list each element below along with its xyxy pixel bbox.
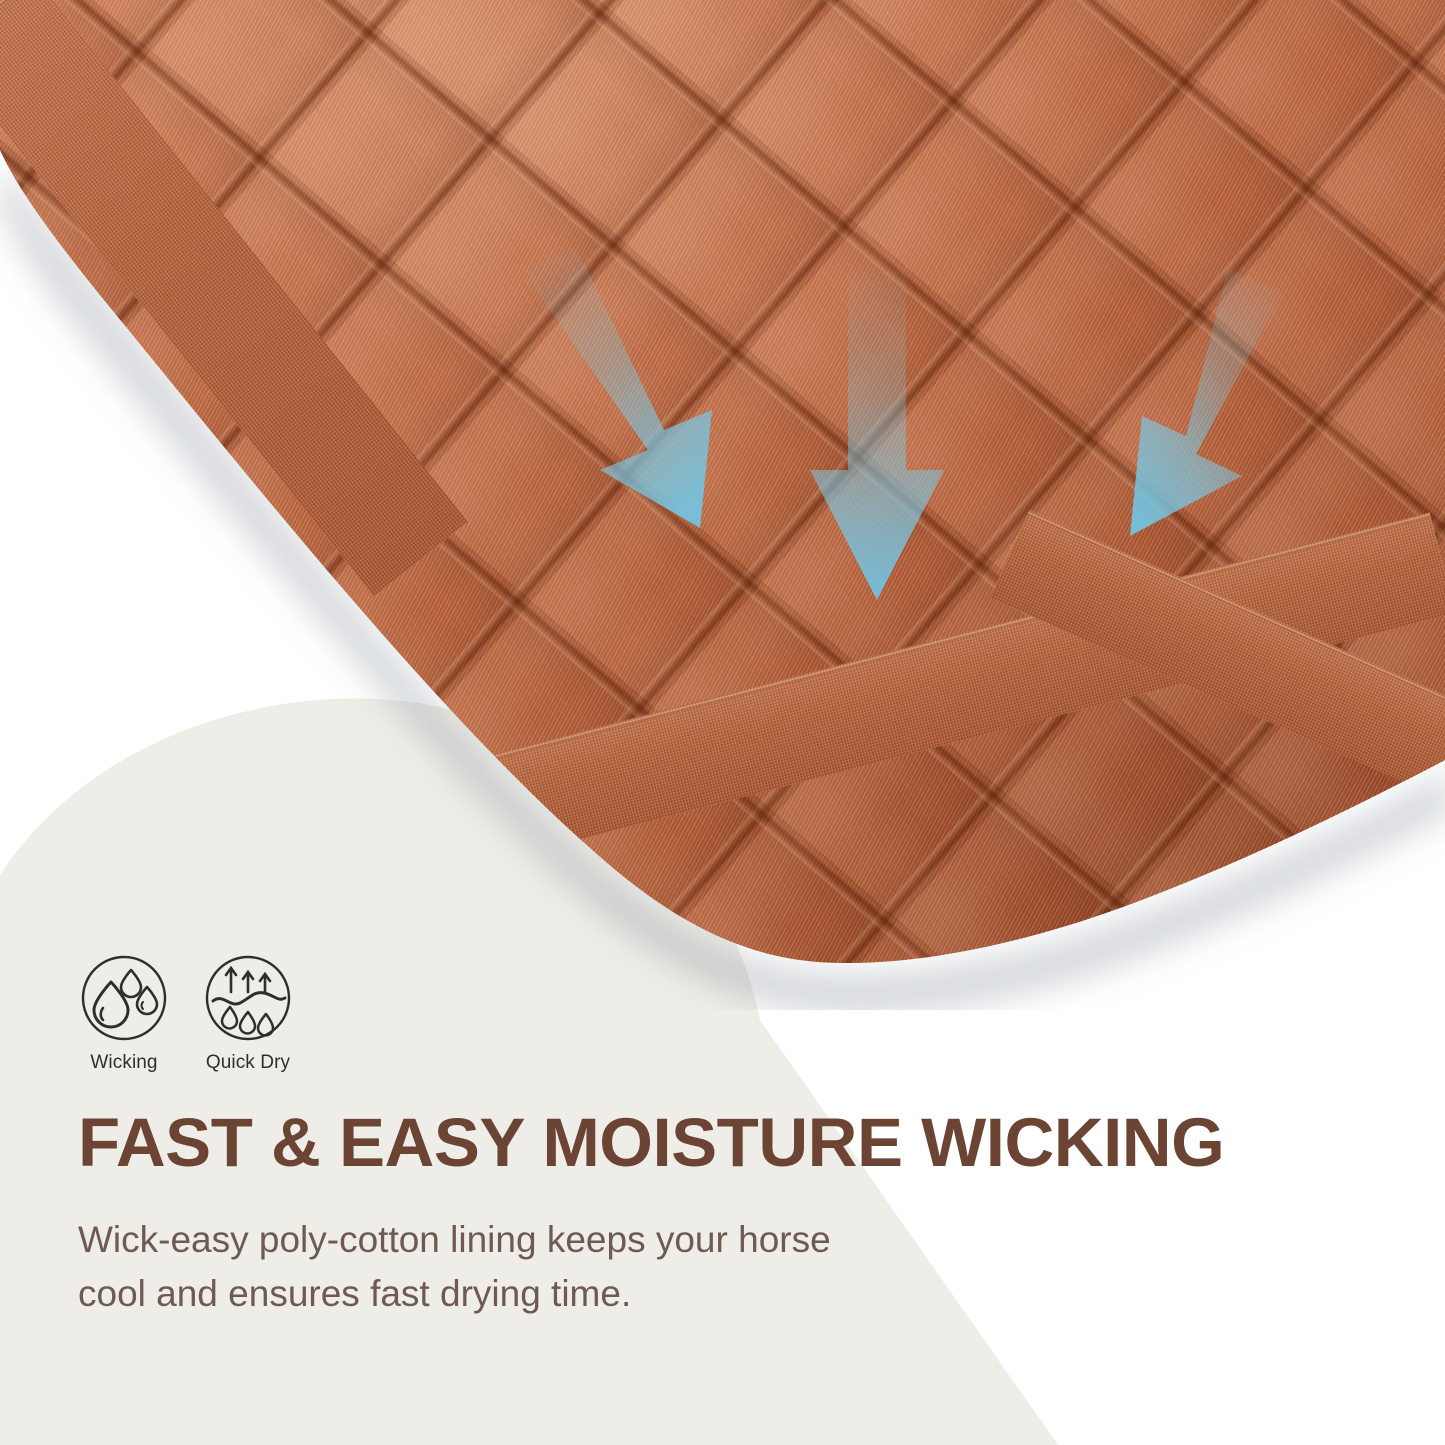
water-droplets-icon <box>78 952 170 1044</box>
quick-dry-icon <box>202 952 294 1044</box>
feature-label: Quick Dry <box>206 1052 290 1074</box>
body-copy-line-2: cool and ensures fast drying time. <box>78 1267 798 1321</box>
headline: FAST & EASY MOISTURE WICKING <box>78 1108 1224 1177</box>
feature-icon-row: Wicking Quick <box>76 952 296 1074</box>
feature-quick-dry: Quick Dry <box>200 952 296 1074</box>
product-photo <box>0 0 1445 1010</box>
feature-label: Wicking <box>90 1052 157 1074</box>
body-copy: Wick-easy poly-cotton lining keeps your … <box>78 1213 798 1322</box>
marketing-image: Wicking Quick <box>0 0 1445 1445</box>
body-copy-line-1: Wick-easy poly-cotton lining keeps your … <box>78 1213 798 1267</box>
feature-wicking: Wicking <box>76 952 172 1074</box>
